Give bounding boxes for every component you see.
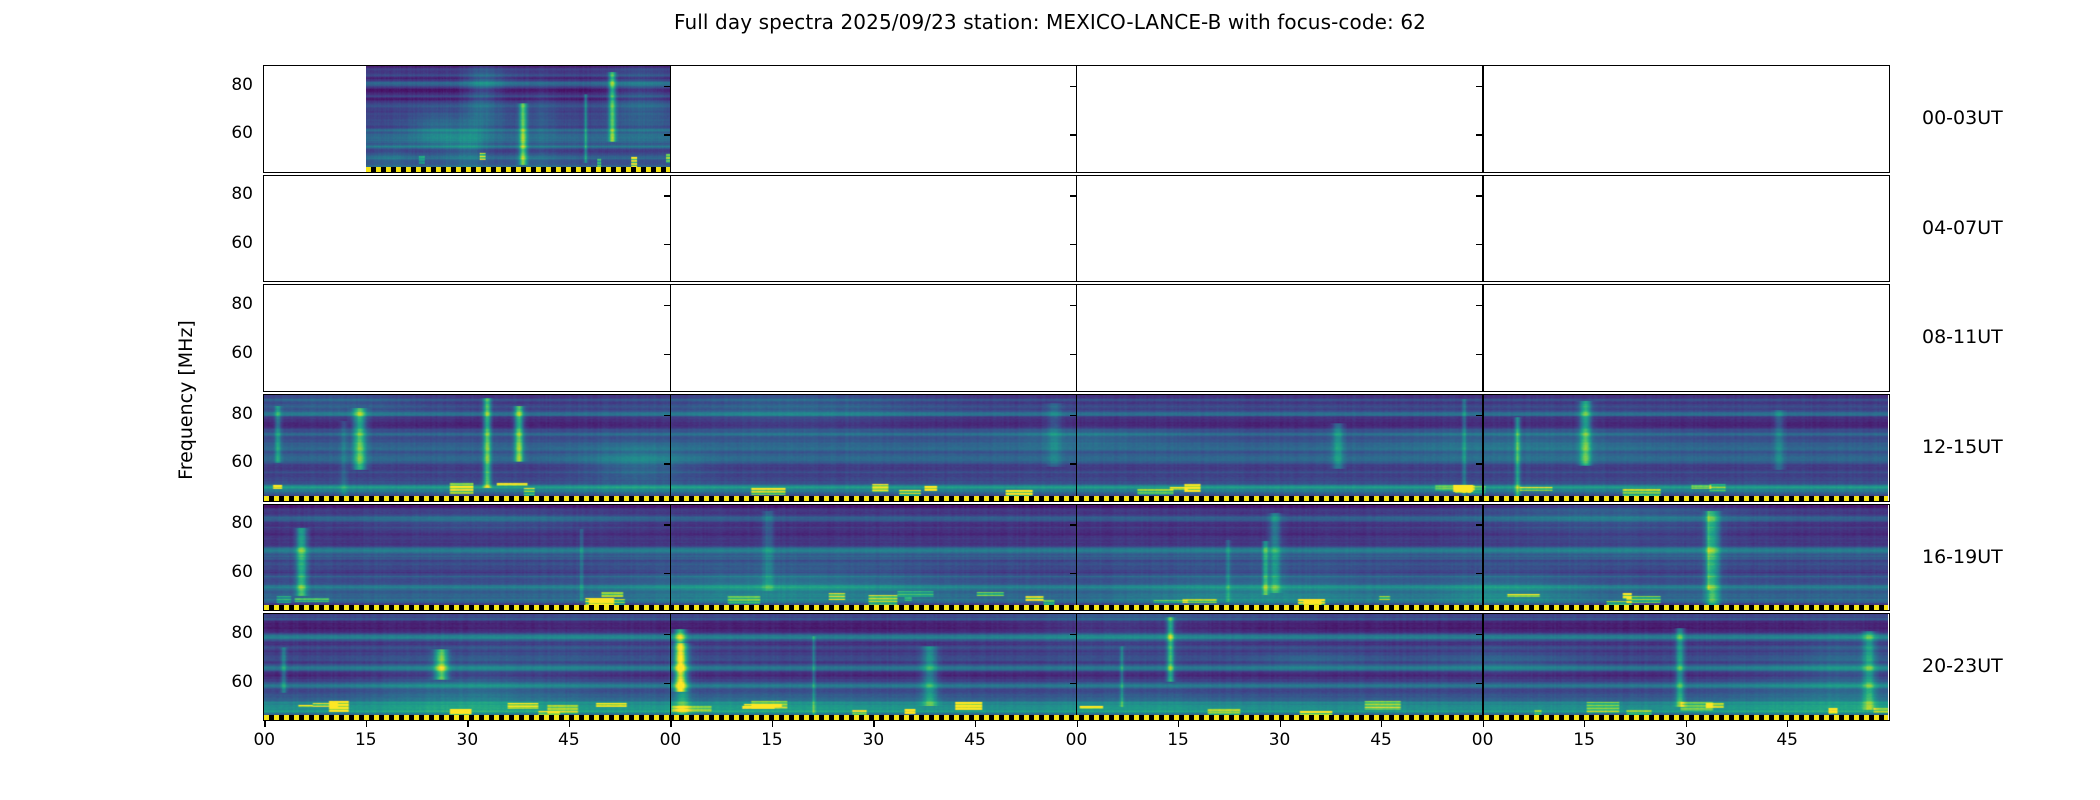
x-axis-tick-label: 45 [955, 730, 995, 750]
y-axis-tick-inner [1476, 195, 1482, 196]
x-axis-tick-label: 30 [853, 730, 893, 750]
y-axis-tick-inner [664, 305, 670, 306]
x-axis-tick-label: 15 [1158, 730, 1198, 750]
spectrogram-panel [263, 504, 1890, 612]
x-axis-tick-label: 15 [752, 730, 792, 750]
x-axis-tick [873, 721, 874, 727]
x-axis-tick [670, 721, 671, 727]
y-axis-tick [263, 524, 264, 525]
y-axis-tick [263, 86, 264, 87]
y-axis-tick-inner [1476, 305, 1482, 306]
y-axis-tick-inner [1476, 683, 1482, 684]
y-axis-tick-inner [1476, 134, 1482, 135]
x-axis-tick [1280, 721, 1281, 727]
y-axis-tick-inner [1070, 634, 1076, 635]
hour-separator-line [1482, 176, 1483, 282]
y-axis-tick-inner [664, 134, 670, 135]
y-axis-tick-inner [1070, 244, 1076, 245]
x-axis-tick-label: 00 [650, 730, 690, 750]
hour-separator-line [1076, 395, 1077, 501]
x-axis-tick [1077, 721, 1078, 727]
x-axis-tick-label: 45 [1767, 730, 1807, 750]
x-axis-tick [1483, 721, 1484, 727]
x-axis-tick [264, 721, 265, 727]
y-axis-tick-label: 60 [205, 343, 253, 363]
page-title: Full day spectra 2025/09/23 station: MEX… [0, 10, 2100, 34]
hour-separator-line [1076, 614, 1077, 720]
y-axis-tick [263, 634, 264, 635]
hour-separator-line [670, 285, 671, 391]
hour-separator-line [1482, 285, 1483, 391]
y-axis-tick-inner [1476, 634, 1482, 635]
y-axis-tick-inner [1070, 463, 1076, 464]
y-axis-tick-inner [1070, 573, 1076, 574]
x-axis-tick-label: 15 [346, 730, 386, 750]
y-axis-tick-inner [1070, 195, 1076, 196]
y-axis-tick-inner [1476, 463, 1482, 464]
y-axis-tick-inner [1476, 573, 1482, 574]
hour-separator-line [1076, 66, 1077, 172]
x-axis-tick-label: 30 [1260, 730, 1300, 750]
y-axis-tick-inner [1070, 86, 1076, 87]
spectrogram-panel [263, 65, 1890, 173]
hour-separator-line [1076, 285, 1077, 391]
frequency-limit-marker [264, 605, 1888, 610]
x-axis-tick-label: 30 [447, 730, 487, 750]
panel-time-label: 20-23UT [1922, 655, 2003, 677]
x-axis-tick [467, 721, 468, 727]
y-axis-tick-label: 80 [205, 623, 253, 643]
x-axis-tick-label: 45 [549, 730, 589, 750]
y-axis-tick-label: 60 [205, 562, 253, 582]
hour-separator-line [670, 395, 671, 501]
panel-time-label: 16-19UT [1922, 546, 2003, 568]
y-axis-tick-inner [1476, 354, 1482, 355]
x-axis-tick [1787, 721, 1788, 727]
hour-separator-line [670, 66, 671, 172]
y-axis-tick-label: 80 [205, 294, 253, 314]
x-axis-tick [1686, 721, 1687, 727]
y-axis-tick [263, 415, 264, 416]
hour-separator-line [1482, 505, 1483, 611]
y-axis-tick [263, 354, 264, 355]
y-axis-tick-inner [1476, 415, 1482, 416]
y-axis-tick-inner [664, 354, 670, 355]
y-axis-tick-inner [664, 683, 670, 684]
x-axis-tick [366, 721, 367, 727]
y-axis-tick-inner [664, 244, 670, 245]
panel-time-label: 12-15UT [1922, 436, 2003, 458]
y-axis-tick-inner [1070, 524, 1076, 525]
y-axis-tick-inner [664, 463, 670, 464]
spectrogram-figure: Full day spectra 2025/09/23 station: MEX… [0, 0, 2100, 800]
y-axis-tick-inner [1070, 305, 1076, 306]
frequency-limit-marker [366, 167, 671, 172]
y-axis-tick-inner [1476, 86, 1482, 87]
hour-separator-line [670, 505, 671, 611]
y-axis-tick-inner [1476, 244, 1482, 245]
panel-time-label: 04-07UT [1922, 217, 2003, 239]
y-axis-tick [263, 573, 264, 574]
y-axis-tick-inner [1070, 415, 1076, 416]
y-axis-tick-inner [664, 415, 670, 416]
x-axis-tick-label: 45 [1361, 730, 1401, 750]
y-axis-tick-label: 80 [205, 184, 253, 204]
y-axis-tick [263, 305, 264, 306]
hour-separator-line [670, 176, 671, 282]
y-axis-tick-inner [1070, 354, 1076, 355]
x-axis-tick-label: 00 [1057, 730, 1097, 750]
y-axis-tick-inner [1476, 524, 1482, 525]
spectrogram-image [366, 66, 671, 172]
x-axis-tick-label: 15 [1564, 730, 1604, 750]
y-axis-tick-inner [1070, 134, 1076, 135]
hour-separator-line [670, 614, 671, 720]
y-axis-tick-label: 60 [205, 452, 253, 472]
y-axis-tick-inner [664, 195, 670, 196]
spectrogram-panel [263, 175, 1890, 283]
x-axis-tick [1584, 721, 1585, 727]
panel-time-label: 08-11UT [1922, 326, 2003, 348]
hour-separator-line [1076, 505, 1077, 611]
spectrogram-panel [263, 394, 1890, 502]
y-axis-label: Frequency [MHz] [175, 320, 197, 480]
spectrogram-panel [263, 284, 1890, 392]
hour-separator-line [1482, 395, 1483, 501]
hour-separator-line [1076, 176, 1077, 282]
hour-separator-line [1482, 66, 1483, 172]
panel-time-label: 00-03UT [1922, 107, 2003, 129]
x-axis-tick-label: 00 [244, 730, 284, 750]
y-axis-tick-inner [664, 634, 670, 635]
hour-separator-line [1482, 614, 1483, 720]
y-axis-tick [263, 195, 264, 196]
y-axis-tick-label: 80 [205, 513, 253, 533]
y-axis-tick [263, 244, 264, 245]
y-axis-tick-label: 60 [205, 233, 253, 253]
y-axis-tick-label: 80 [205, 404, 253, 424]
y-axis-tick-inner [1070, 683, 1076, 684]
x-axis-tick-label: 30 [1666, 730, 1706, 750]
x-axis-tick-label: 00 [1463, 730, 1503, 750]
y-axis-tick [263, 683, 264, 684]
y-axis-tick-inner [664, 524, 670, 525]
y-axis-tick-label: 60 [205, 672, 253, 692]
x-axis-tick [1381, 721, 1382, 727]
x-axis-tick [569, 721, 570, 727]
x-axis-tick [1178, 721, 1179, 727]
x-axis-tick [975, 721, 976, 727]
y-axis-tick-inner [664, 86, 670, 87]
frequency-limit-marker [264, 715, 1888, 720]
x-axis-tick [772, 721, 773, 727]
y-axis-tick [263, 463, 264, 464]
y-axis-tick [263, 134, 264, 135]
y-axis-tick-inner [664, 573, 670, 574]
spectrogram-panel [263, 613, 1890, 721]
frequency-limit-marker [264, 496, 1888, 501]
y-axis-tick-label: 80 [205, 75, 253, 95]
y-axis-tick-label: 60 [205, 123, 253, 143]
